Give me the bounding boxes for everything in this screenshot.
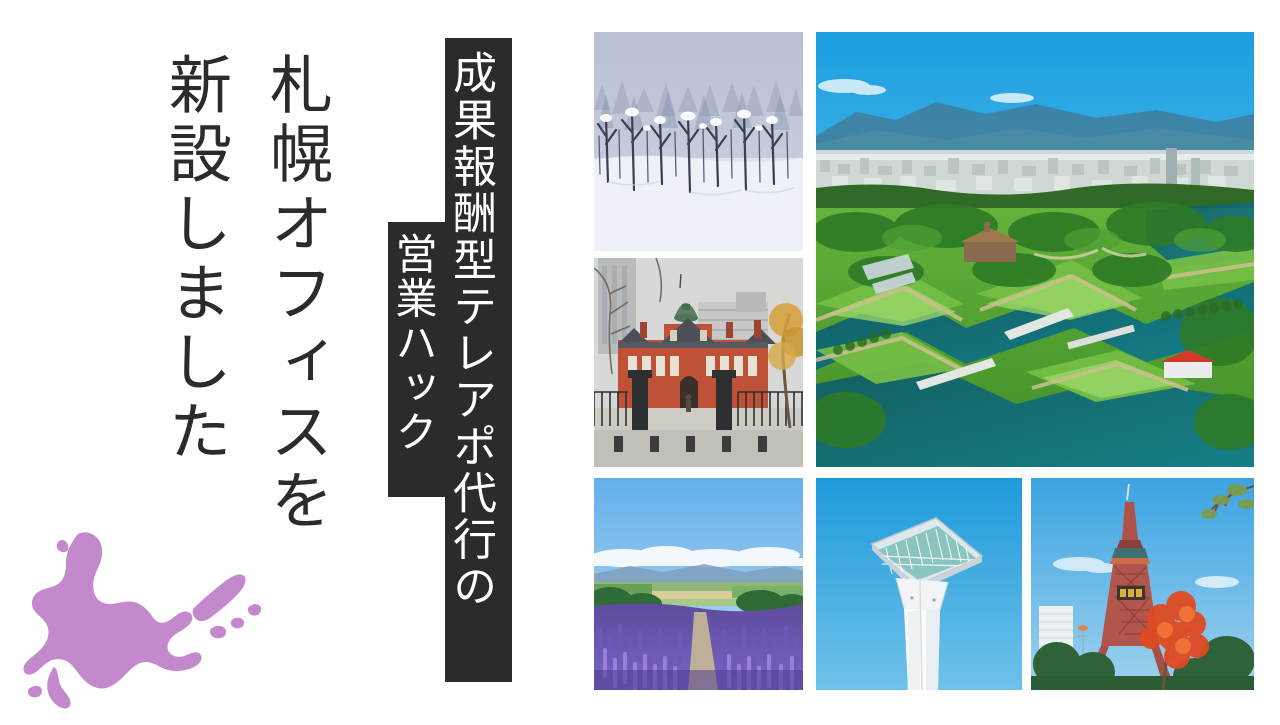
photo-goryokaku-tower [816,478,1022,690]
headline-line-primary: 札幌オフィスを [265,52,328,537]
banner: 成果報酬型テレアポ代行の 営業ハック [370,0,530,720]
photo-lavender-field [594,478,803,690]
hokkaido-map-icon [22,520,262,720]
photo-snow-forest [594,32,803,251]
photo-collage [594,32,1254,690]
photo-goryokaku-aerial [816,32,1254,467]
photo-sapporo-tv-tower [1031,478,1254,690]
photo-red-brick-building [594,258,803,467]
banner-text-service: 成果報酬型テレアポ代行の [448,50,492,610]
headline-area: 札幌オフィスを 新設しました [0,0,370,720]
hokkaido-shape [23,532,261,708]
headline-line-secondary: 新設しました [164,52,227,468]
banner-text-brand: 営業ハック [392,232,434,455]
